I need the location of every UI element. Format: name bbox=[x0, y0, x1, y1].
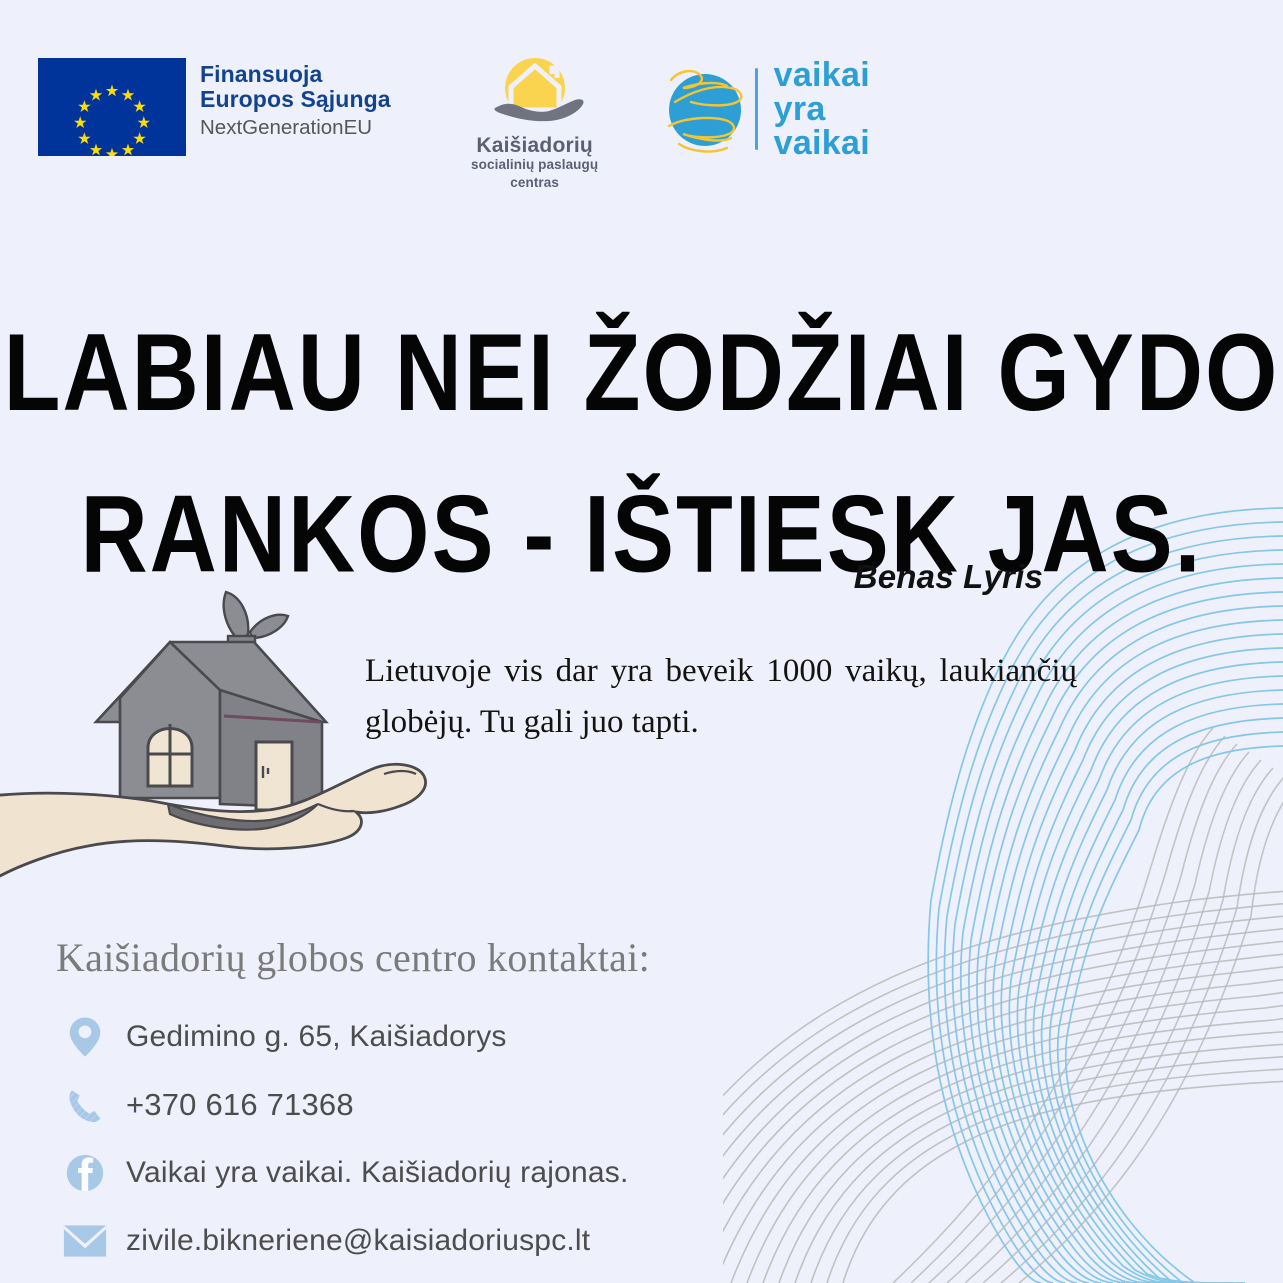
contact-email-text: zivile.bikneriene@kaisiadoriuspc.lt bbox=[126, 1224, 590, 1258]
contact-address-text: Gedimino g. 65, Kaišiadorys bbox=[126, 1020, 507, 1054]
contact-facebook-text: Vaikai yra vaikai. Kaišiadorių rajonas. bbox=[126, 1156, 628, 1190]
contact-row-email[interactable]: zivile.bikneriene@kaisiadoriuspc.lt bbox=[58, 1212, 918, 1270]
hand-holding-house-illustration bbox=[0, 570, 458, 900]
poster-canvas: Finansuoja Europos Sąjunga NextGeneratio… bbox=[0, 0, 1283, 1283]
body-paragraph: Lietuvoje vis dar yra beveik 1000 vaikų,… bbox=[365, 646, 1077, 748]
logo-divider bbox=[755, 68, 758, 150]
european-union-flag bbox=[38, 58, 186, 156]
kaisiadoriu-social-services-logo: Kaišiadorių socialinių paslaugų centras bbox=[449, 58, 621, 192]
contact-row-facebook[interactable]: Vaikai yra vaikai. Kaišiadorių rajonas. bbox=[58, 1144, 918, 1202]
vaikai-yra-vaikai-logo: vaikai yra vaikai bbox=[661, 58, 870, 160]
kaisiadoriu-logo-line2: socialinių paslaugų centras bbox=[449, 156, 621, 192]
phone-icon bbox=[58, 1081, 112, 1129]
facebook-icon bbox=[58, 1149, 112, 1197]
envelope-icon bbox=[58, 1217, 112, 1265]
eu-logo-text: Finansuoja Europos Sąjunga NextGeneratio… bbox=[200, 58, 391, 141]
globe-with-swirl-icon bbox=[661, 58, 749, 160]
kaisiadoriu-logo-line1: Kaišiadorių bbox=[449, 135, 621, 156]
contact-row-phone[interactable]: +370 616 71368 bbox=[58, 1076, 918, 1134]
contact-phone-text: +370 616 71368 bbox=[126, 1087, 354, 1123]
vyv-line2: yra bbox=[774, 92, 870, 126]
contact-list: Gedimino g. 65, Kaišiadorys +370 616 713… bbox=[58, 1008, 918, 1280]
headline-line1: LABIAU NEI ŽODŽIAI GYDO bbox=[0, 292, 1283, 454]
eu-text-line1: Finansuoja bbox=[200, 62, 391, 87]
eu-text-line3: NextGenerationEU bbox=[200, 115, 391, 141]
page-title: LABIAU NEI ŽODŽIAI GYDO RANKOS - IŠTIESK… bbox=[0, 292, 1283, 615]
vyv-line3: vaikai bbox=[774, 126, 870, 160]
contact-row-address[interactable]: Gedimino g. 65, Kaišiadorys bbox=[58, 1008, 918, 1066]
house-heart-hand-icon bbox=[449, 58, 621, 130]
contacts-heading: Kaišiadorių globos centro kontaktai: bbox=[56, 934, 650, 981]
vaikai-yra-vaikai-wordmark: vaikai yra vaikai bbox=[774, 58, 870, 160]
quote-author: Benas Lyris bbox=[854, 558, 1043, 596]
vyv-line1: vaikai bbox=[774, 58, 870, 92]
eu-text-line2: Europos Sąjunga bbox=[200, 87, 391, 112]
location-pin-icon bbox=[58, 1013, 112, 1061]
eu-funding-logo: Finansuoja Europos Sąjunga NextGeneratio… bbox=[38, 58, 391, 156]
logo-row: Finansuoja Europos Sąjunga NextGeneratio… bbox=[38, 58, 870, 168]
